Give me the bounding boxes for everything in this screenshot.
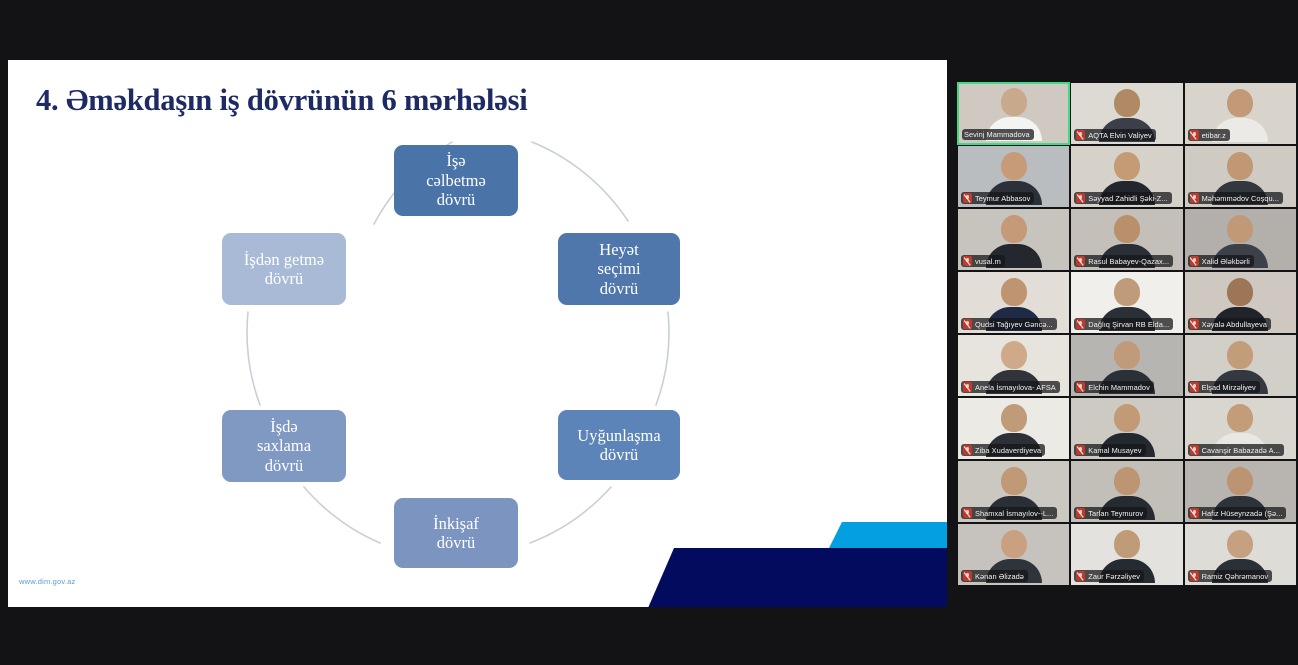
microphone-muted-icon bbox=[1190, 193, 1199, 203]
silhouette-head bbox=[1114, 404, 1140, 432]
video-tile[interactable]: Zaur Fərzəliyev bbox=[1070, 523, 1183, 586]
microphone-muted-icon bbox=[1076, 256, 1085, 266]
silhouette-head bbox=[1227, 89, 1253, 117]
microphone-muted-icon bbox=[1190, 571, 1199, 581]
microphone-muted-icon bbox=[963, 445, 972, 455]
participant-name: Cavanşir Babazadə A... bbox=[1202, 446, 1280, 455]
participant-name: Dağlıq Şirvan RB Elda... bbox=[1088, 320, 1169, 329]
slide-decor-navy-band bbox=[648, 548, 947, 607]
silhouette-head bbox=[1001, 530, 1027, 558]
participant-name: Zaur Fərzəliyev bbox=[1088, 572, 1140, 581]
participant-nameplate: Qudsi Tağıyev Gəncə... bbox=[961, 318, 1057, 330]
video-tile[interactable]: Xəyalə Abdullayeva bbox=[1184, 271, 1297, 334]
silhouette-head bbox=[1114, 215, 1140, 243]
participant-name: Ziba Xudaverdiyeva bbox=[975, 446, 1041, 455]
participant-nameplate: etibar.z bbox=[1188, 129, 1230, 141]
video-tile[interactable]: Elchin Mammadov bbox=[1070, 334, 1183, 397]
participant-name: Kamal Musayev bbox=[1088, 446, 1141, 455]
participant-nameplate: AQTA Elvin Valiyev bbox=[1074, 129, 1155, 141]
slide-decor-blue-band bbox=[828, 522, 947, 550]
participant-name: Səyyad Zahidli Şəki-Z... bbox=[1088, 194, 1167, 203]
silhouette-head bbox=[1114, 278, 1140, 306]
silhouette-head bbox=[1001, 341, 1027, 369]
silhouette-head bbox=[1001, 88, 1027, 116]
participant-name: Elchin Mammadov bbox=[1088, 383, 1150, 392]
video-tile[interactable]: Məhəmmədov Coşqu... bbox=[1184, 145, 1297, 208]
participant-nameplate: Dağlıq Şirvan RB Elda... bbox=[1074, 318, 1173, 330]
participant-nameplate: Xalid Ələkbərli bbox=[1188, 255, 1254, 267]
video-tile[interactable]: Ramiz Qəhrəmanov bbox=[1184, 523, 1297, 586]
participant-nameplate: Shamxal İsmayılov--L... bbox=[961, 507, 1057, 519]
microphone-muted-icon bbox=[1190, 256, 1199, 266]
video-tile[interactable]: Rasul Babayev-Qazax... bbox=[1070, 208, 1183, 271]
silhouette-head bbox=[1227, 341, 1253, 369]
cycle-node[interactable]: İnkişaf dövrü bbox=[394, 498, 518, 568]
video-tile[interactable]: Shamxal İsmayılov--L... bbox=[957, 460, 1070, 523]
microphone-muted-icon bbox=[963, 319, 972, 329]
microphone-muted-icon bbox=[1076, 319, 1085, 329]
video-tile[interactable]: Hafiz Hüseynzadə (Şə... bbox=[1184, 460, 1297, 523]
microphone-muted-icon bbox=[963, 508, 972, 518]
participant-name: Ramiz Qəhrəmanov bbox=[1202, 572, 1269, 581]
microphone-muted-icon bbox=[1190, 382, 1199, 392]
participant-nameplate: Səyyad Zahidli Şəki-Z... bbox=[1074, 192, 1171, 204]
silhouette-head bbox=[1114, 152, 1140, 180]
participant-name: Elşad Mirzəliyev bbox=[1202, 383, 1256, 392]
cycle-node[interactable]: İşə cəlbetmə dövrü bbox=[394, 145, 518, 216]
video-tile[interactable]: Cavanşir Babazadə A... bbox=[1184, 397, 1297, 460]
participant-name: etibar.z bbox=[1202, 131, 1226, 140]
participant-name: Xalid Ələkbərli bbox=[1202, 257, 1250, 266]
silhouette-head bbox=[1227, 278, 1253, 306]
silhouette-head bbox=[1114, 530, 1140, 558]
participant-nameplate: Kamal Musayev bbox=[1074, 444, 1145, 456]
participant-nameplate: Hafiz Hüseynzadə (Şə... bbox=[1188, 507, 1287, 519]
microphone-muted-icon bbox=[1076, 571, 1085, 581]
cycle-node[interactable]: İşdən getmə dövrü bbox=[222, 233, 346, 305]
participant-name: Kənan Əlizadə bbox=[975, 572, 1024, 581]
video-tile[interactable]: Kənan Əlizadə bbox=[957, 523, 1070, 586]
video-tile[interactable]: Anela İsmayılova- AFSA bbox=[957, 334, 1070, 397]
participant-name: Qudsi Tağıyev Gəncə... bbox=[975, 320, 1053, 329]
microphone-muted-icon bbox=[963, 256, 972, 266]
participant-name: Anela İsmayılova- AFSA bbox=[975, 383, 1056, 392]
meeting-window: 4. Əməkdaşın iş dövrünün 6 mərhələsi İşə… bbox=[0, 0, 1298, 665]
silhouette-head bbox=[1114, 467, 1140, 495]
microphone-muted-icon bbox=[1076, 508, 1085, 518]
microphone-muted-icon bbox=[1190, 445, 1199, 455]
video-tile[interactable]: Xalid Ələkbərli bbox=[1184, 208, 1297, 271]
microphone-muted-icon bbox=[963, 382, 972, 392]
silhouette-head bbox=[1001, 467, 1027, 495]
video-tile[interactable]: Teymur Abbasov bbox=[957, 145, 1070, 208]
microphone-muted-icon bbox=[1190, 319, 1199, 329]
participant-nameplate: Anela İsmayılova- AFSA bbox=[961, 381, 1060, 393]
participant-nameplate: Ziba Xudaverdiyeva bbox=[961, 444, 1045, 456]
silhouette-head bbox=[1227, 530, 1253, 558]
microphone-muted-icon bbox=[963, 571, 972, 581]
video-tile[interactable]: Ziba Xudaverdiyeva bbox=[957, 397, 1070, 460]
participant-name: Məhəmmədov Coşqu... bbox=[1202, 194, 1279, 203]
silhouette-head bbox=[1001, 404, 1027, 432]
video-tile[interactable]: Tarlan Teymurov bbox=[1070, 460, 1183, 523]
participant-name: Shamxal İsmayılov--L... bbox=[975, 509, 1053, 518]
silhouette-head bbox=[1227, 215, 1253, 243]
cycle-node[interactable]: Heyət seçimi dövrü bbox=[558, 233, 680, 305]
video-tile[interactable]: Kamal Musayev bbox=[1070, 397, 1183, 460]
participant-name: Hafiz Hüseynzadə (Şə... bbox=[1202, 509, 1283, 518]
participant-name: Teymur Abbasov bbox=[975, 194, 1030, 203]
participant-nameplate: vusal.m bbox=[961, 255, 1005, 267]
participant-name: vusal.m bbox=[975, 257, 1001, 266]
video-tile[interactable]: Sevinj Mammadova bbox=[957, 82, 1070, 145]
silhouette-head bbox=[1114, 341, 1140, 369]
participant-name: Sevinj Mammadova bbox=[964, 130, 1030, 139]
video-tile[interactable]: Elşad Mirzəliyev bbox=[1184, 334, 1297, 397]
video-tile[interactable]: etibar.z bbox=[1184, 82, 1297, 145]
participant-name: Tarlan Teymurov bbox=[1088, 509, 1143, 518]
microphone-muted-icon bbox=[1076, 445, 1085, 455]
shared-screen-slide[interactable]: 4. Əməkdaşın iş dövrünün 6 mərhələsi İşə… bbox=[8, 60, 947, 607]
microphone-muted-icon bbox=[1076, 193, 1085, 203]
microphone-muted-icon bbox=[1076, 382, 1085, 392]
video-tile[interactable]: AQTA Elvin Valiyev bbox=[1070, 82, 1183, 145]
slide-footer-url: www.dim.gov.az bbox=[19, 577, 75, 586]
participant-nameplate: Xəyalə Abdullayeva bbox=[1188, 318, 1271, 330]
silhouette-head bbox=[1001, 152, 1027, 180]
participant-nameplate: Cavanşir Babazadə A... bbox=[1188, 444, 1284, 456]
participant-nameplate: Zaur Fərzəliyev bbox=[1074, 570, 1144, 582]
participant-nameplate: Elchin Mammadov bbox=[1074, 381, 1154, 393]
participant-nameplate: Teymur Abbasov bbox=[961, 192, 1034, 204]
share-edge-handle[interactable] bbox=[936, 256, 947, 270]
silhouette-head bbox=[1227, 467, 1253, 495]
video-tile[interactable]: vusal.m bbox=[957, 208, 1070, 271]
participant-nameplate: Elşad Mirzəliyev bbox=[1188, 381, 1260, 393]
video-tile[interactable]: Qudsi Tağıyev Gəncə... bbox=[957, 271, 1070, 334]
microphone-muted-icon bbox=[1190, 130, 1199, 140]
participant-nameplate: Rasul Babayev-Qazax... bbox=[1074, 255, 1173, 267]
silhouette-head bbox=[1227, 152, 1253, 180]
microphone-muted-icon bbox=[963, 193, 972, 203]
participant-video-grid: Sevinj MammadovaAQTA Elvin Valiyevetibar… bbox=[957, 82, 1297, 586]
cycle-diagram: İşə cəlbetmə dövrü Heyət seçimi dövrü Uy… bbox=[8, 60, 947, 607]
participant-nameplate: Ramiz Qəhrəmanov bbox=[1188, 570, 1273, 582]
participant-name: AQTA Elvin Valiyev bbox=[1088, 131, 1151, 140]
participant-nameplate: Sevinj Mammadova bbox=[962, 129, 1034, 140]
silhouette-head bbox=[1001, 278, 1027, 306]
video-tile[interactable]: Səyyad Zahidli Şəki-Z... bbox=[1070, 145, 1183, 208]
participant-nameplate: Kənan Əlizadə bbox=[961, 570, 1028, 582]
cycle-node[interactable]: Uyğunlaşma dövrü bbox=[558, 410, 680, 480]
silhouette-head bbox=[1227, 404, 1253, 432]
cycle-node[interactable]: İşdə saxlama dövrü bbox=[222, 410, 346, 482]
participant-name: Rasul Babayev-Qazax... bbox=[1088, 257, 1169, 266]
silhouette-head bbox=[1001, 215, 1027, 243]
participant-nameplate: Tarlan Teymurov bbox=[1074, 507, 1147, 519]
silhouette-head bbox=[1114, 89, 1140, 117]
participant-name: Xəyalə Abdullayeva bbox=[1202, 320, 1267, 329]
microphone-muted-icon bbox=[1076, 130, 1085, 140]
microphone-muted-icon bbox=[1190, 508, 1199, 518]
video-tile[interactable]: Dağlıq Şirvan RB Elda... bbox=[1070, 271, 1183, 334]
participant-nameplate: Məhəmmədov Coşqu... bbox=[1188, 192, 1283, 204]
